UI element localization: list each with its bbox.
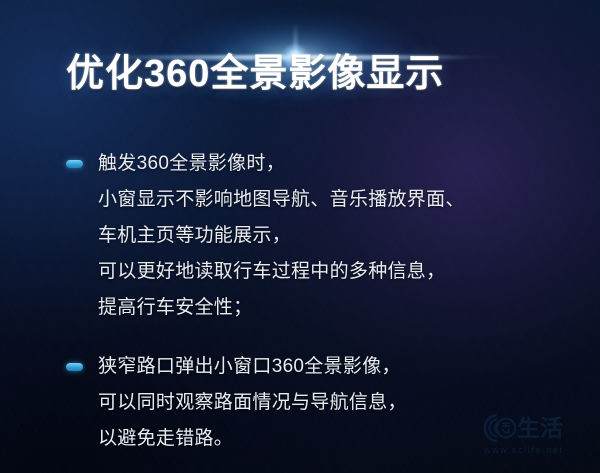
bullet-line: 狭窄路口弹出小窗口360全景影像， (98, 349, 536, 385)
bullet-line: 可以更好地读取行车过程中的多种信息， (98, 254, 536, 290)
bullet-line: 触发360全景影像时， (98, 146, 536, 182)
bullet-line: 可以同时观察路面情况与导航信息， (98, 385, 536, 421)
bullet-line: 以避免走错路。 (98, 421, 536, 457)
pill-bullet-icon (66, 160, 83, 168)
bullet-line: 车机主页等功能展示， (98, 218, 536, 254)
bullet-item: 触发360全景影像时， 小窗显示不影响地图导航、音乐播放界面、 车机主页等功能展… (66, 146, 536, 326)
pill-bullet-icon (66, 363, 83, 371)
bullet-list: 触发360全景影像时， 小窗显示不影响地图导航、音乐播放界面、 车机主页等功能展… (66, 146, 536, 457)
slide-title: 优化360全景影像显示 (66, 52, 444, 96)
bullet-item: 狭窄路口弹出小窗口360全景影像， 可以同时观察路面情况与导航信息， 以避免走错… (66, 349, 536, 457)
slide-canvas: 优化360全景影像显示 触发360全景影像时， 小窗显示不影响地图导航、音乐播放… (0, 0, 600, 473)
bullet-line: 小窗显示不影响地图导航、音乐播放界面、 (98, 182, 536, 218)
bullet-line: 提高行车安全性； (98, 290, 536, 326)
